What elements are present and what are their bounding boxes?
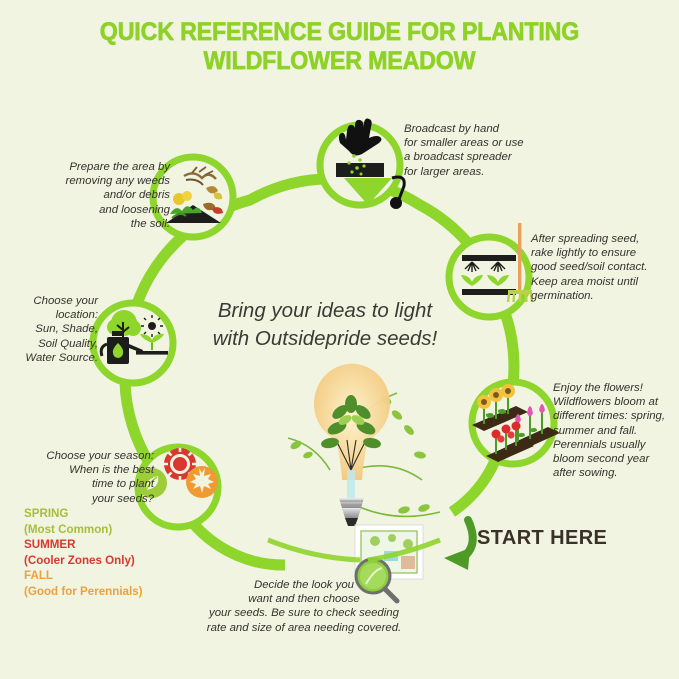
season-name-fall: FALL: [24, 568, 199, 584]
fall-maple-icon: [186, 466, 218, 498]
node-enjoy-flowers[interactable]: [472, 382, 560, 464]
infographic-canvas: QUICK REFERENCE GUIDE FOR PLANTING WILDF…: [0, 0, 679, 679]
season-name-summer: SUMMER: [24, 537, 199, 553]
caption-broadcast-seed: Broadcast by hand for smaller areas or u…: [404, 122, 564, 179]
caption-rake-lightly: After spreading seed, rake lightly to en…: [531, 232, 679, 303]
season-note-summer: (Cooler Zones Only): [24, 553, 199, 569]
season-note-fall: (Good for Perennials): [24, 584, 199, 600]
season-name-spring: SPRING: [24, 506, 199, 522]
slogan-line-1: Bring your ideas to light: [190, 297, 460, 325]
caption-choose-season: Choose your season: When is the best tim…: [14, 449, 154, 506]
season-note-spring: (Most Common): [24, 522, 199, 538]
center-slogan: Bring your ideas to light with Outsidepr…: [190, 297, 460, 353]
lightbulb-illustration: [268, 364, 440, 601]
start-here-label: START HERE: [477, 527, 607, 550]
slogan-line-2: with Outsidepride seeds!: [190, 325, 460, 353]
caption-enjoy-flowers: Enjoy the flowers! Wildflowers bloom at …: [553, 381, 679, 480]
caption-decide-look: Decide the look you want and then choose…: [188, 578, 420, 635]
caption-choose-location: Choose your location: Sun, Shade, Soil Q…: [10, 294, 98, 365]
start-here-arrow-icon: [444, 520, 473, 570]
caption-prepare-area: Prepare the area by removing any weeds a…: [50, 160, 170, 231]
season-legend: SPRING (Most Common) SUMMER (Cooler Zone…: [24, 506, 199, 600]
node-choose-location[interactable]: [93, 303, 173, 383]
